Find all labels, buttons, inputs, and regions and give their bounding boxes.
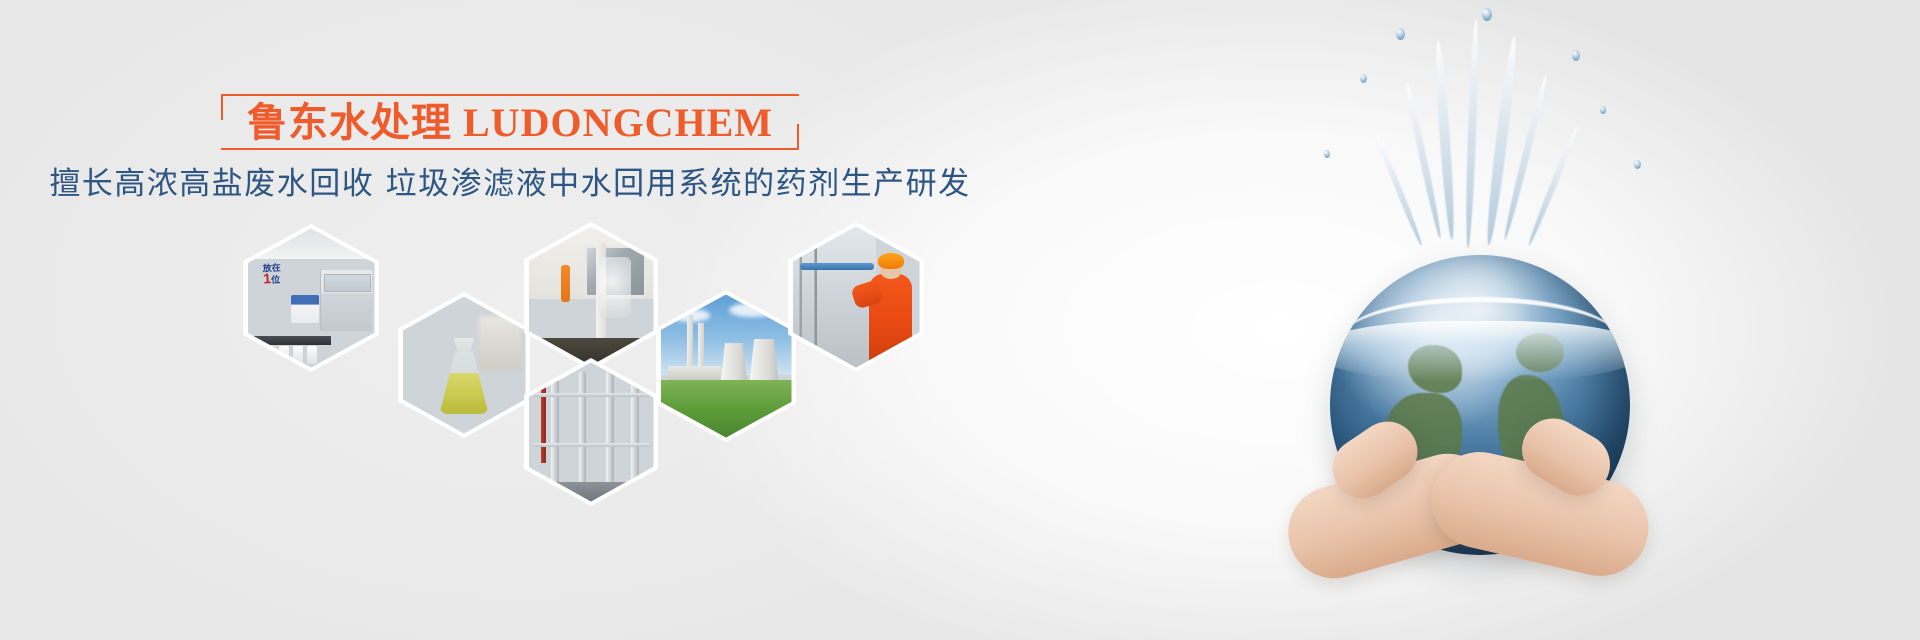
water-droplet: [1396, 28, 1405, 40]
lab-bench: [253, 336, 332, 346]
lab-drum: [278, 345, 290, 365]
pipe-column: [551, 371, 559, 485]
distillation-rig: [599, 257, 632, 318]
water-crest: [1342, 297, 1618, 380]
cooling-tower: [750, 339, 779, 380]
photo-chemical-flask: [403, 297, 526, 434]
hex-tile-power-plant[interactable]: [656, 290, 796, 442]
water-droplet: [1600, 106, 1606, 114]
worker-helmet: [878, 253, 905, 269]
lab-ceiling: [248, 229, 375, 260]
lab-machine: [291, 295, 319, 323]
hex-tile-chemical-flask[interactable]: [398, 292, 530, 438]
hero-water-globe: [1000, 0, 1920, 640]
water-droplet: [1634, 160, 1641, 169]
banner-stage: 鲁东水处理 LUDONGCHEM 擅长高浓高盐废水回收 垃圾渗滤液中水回用系统的…: [0, 0, 1920, 640]
lab-drum: [306, 345, 318, 365]
hexagon-photo-cluster: 放在1位: [0, 0, 1020, 640]
water-droplet: [1324, 150, 1330, 158]
photo-plant-worker: [793, 227, 920, 368]
background-window: [479, 316, 521, 371]
water-droplet: [1482, 8, 1492, 21]
water-droplet: [1572, 50, 1580, 61]
hex-tile-laboratory-room[interactable]: 放在1位: [243, 224, 379, 372]
lab-cabinet: [320, 270, 372, 331]
hex-tile-lab-glassware[interactable]: [524, 222, 658, 370]
photo-lab-glassware: [529, 227, 654, 366]
water-splash-crown: [1300, 10, 1670, 290]
cooling-tower: [721, 343, 747, 380]
pipe-column: [606, 371, 614, 485]
plant-floor: [529, 482, 654, 501]
pipe-rail: [534, 393, 649, 397]
lab-drum: [292, 345, 304, 365]
orange-stand: [561, 265, 570, 301]
pipe-rail: [534, 443, 649, 447]
pipe-column: [631, 371, 639, 485]
green-field: [661, 380, 792, 437]
photo-power-plant: [661, 295, 792, 438]
wall-slogan: 放在1位: [262, 263, 281, 286]
blue-hose: [800, 263, 874, 270]
pipe-column: [579, 371, 587, 485]
hex-tile-industrial-piping[interactable]: [524, 358, 658, 506]
photo-laboratory-room: 放在1位: [248, 229, 375, 368]
photo-industrial-piping: [529, 363, 654, 502]
water-droplet: [1360, 74, 1367, 83]
hex-tile-plant-worker[interactable]: [788, 222, 924, 372]
